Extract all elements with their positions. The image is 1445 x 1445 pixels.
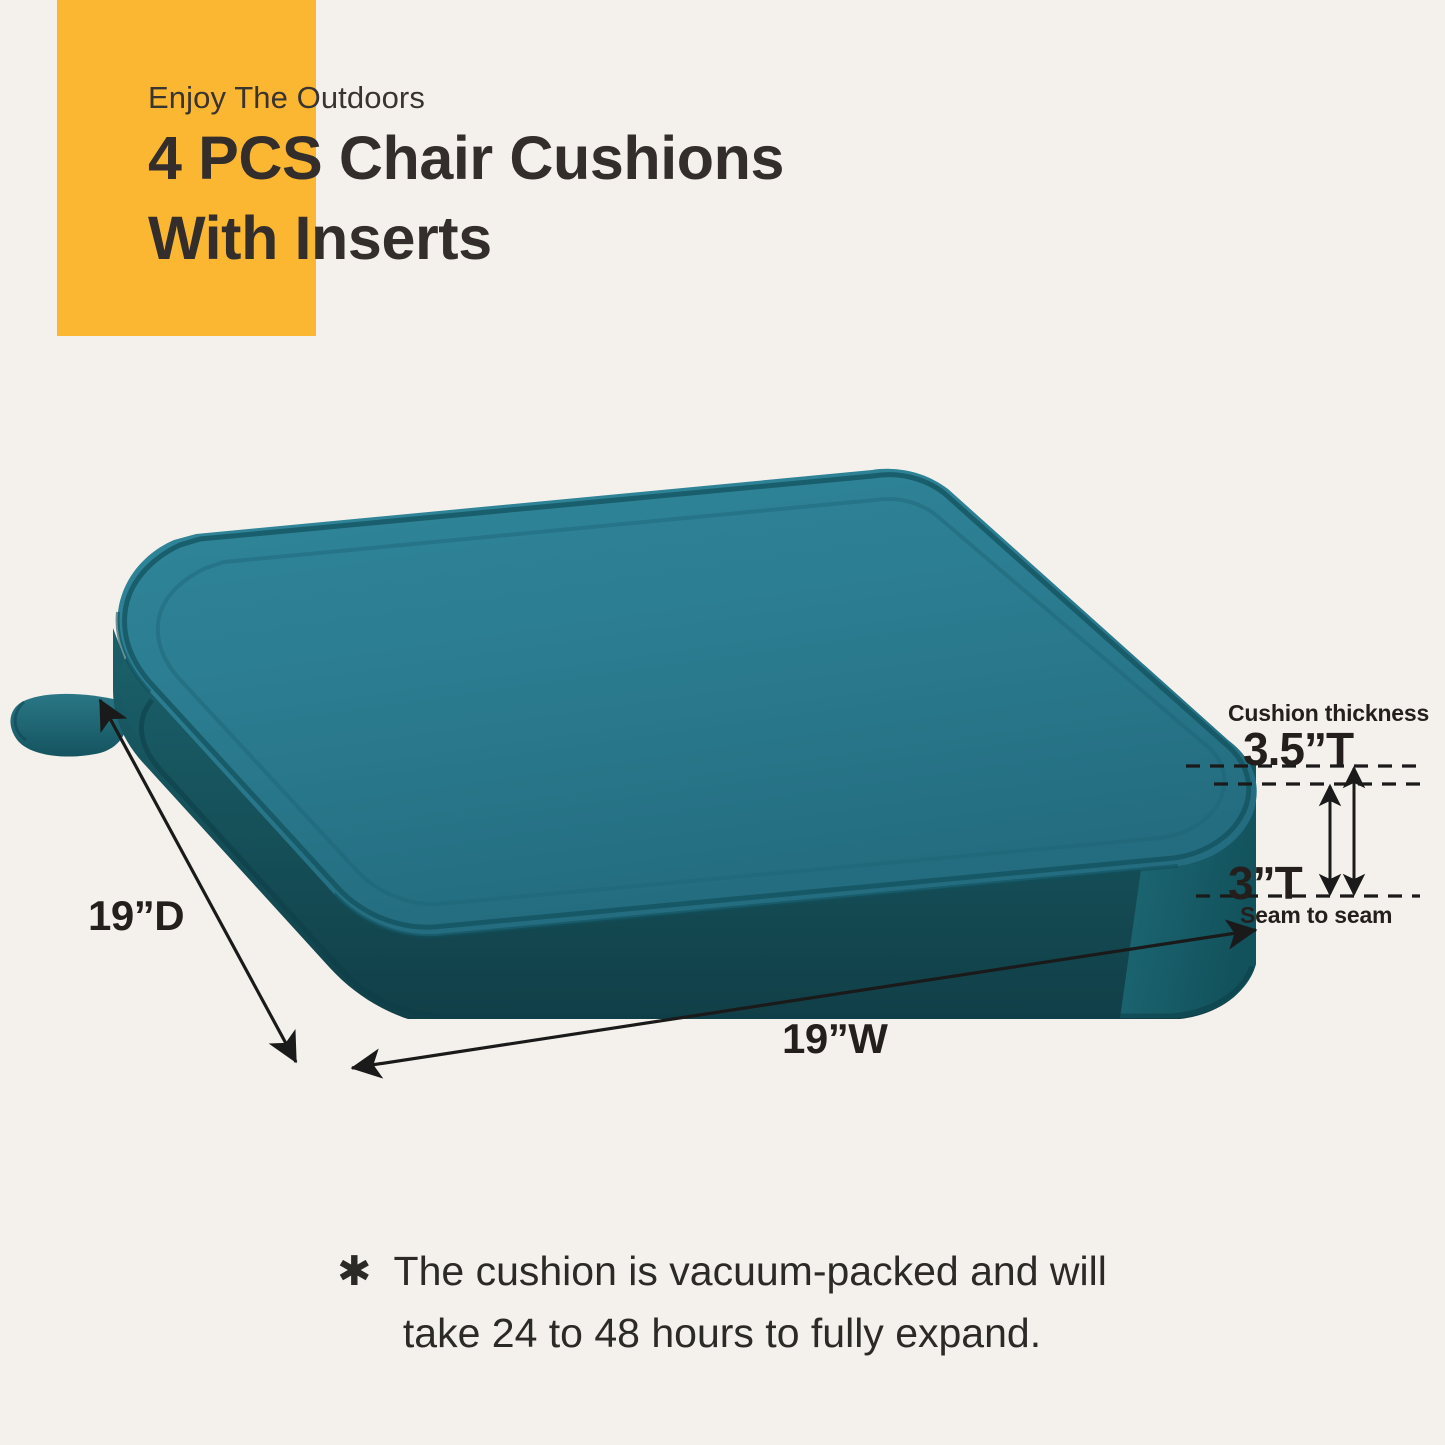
cushion-thickness-value: 3.5”T — [1243, 722, 1353, 776]
width-label: 19”W — [782, 1015, 887, 1063]
cushion-handle-strap — [10, 694, 126, 757]
footnote-text-1: The cushion is vacuum-packed and will — [394, 1248, 1107, 1294]
footnote-line-1: ✱The cushion is vacuum-packed and will — [222, 1240, 1222, 1302]
footnote: ✱The cushion is vacuum-packed and will t… — [222, 1240, 1222, 1364]
asterisk-icon: ✱ — [337, 1248, 371, 1294]
depth-label: 19”D — [88, 892, 184, 940]
seam-to-seam-caption: Seam to seam — [1240, 902, 1392, 929]
product-infographic: Enjoy The Outdoors 4 PCS Chair Cushions … — [0, 0, 1445, 1445]
footnote-line-2: take 24 to 48 hours to fully expand. — [222, 1302, 1222, 1364]
